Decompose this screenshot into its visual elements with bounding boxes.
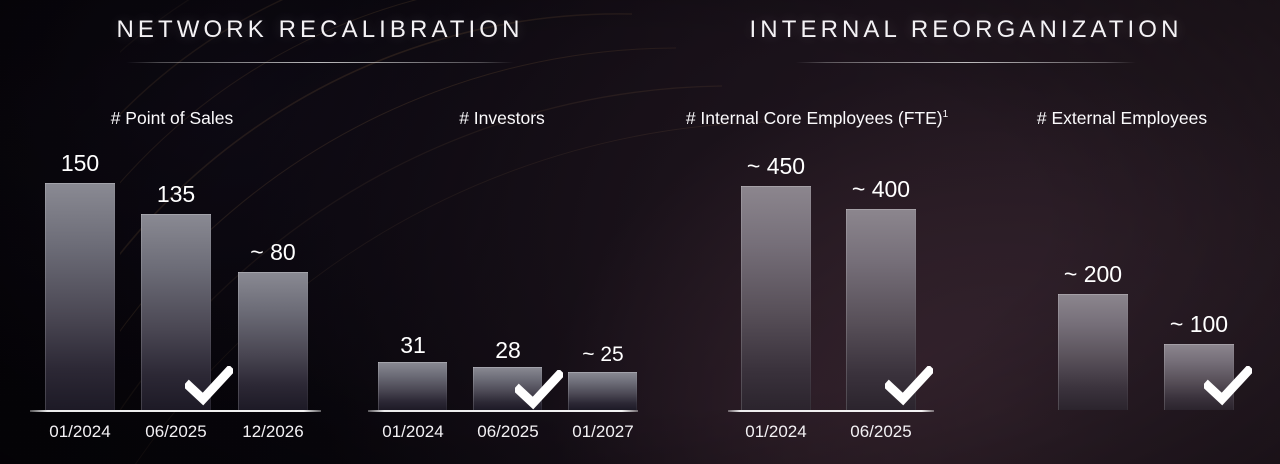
bar-investors-1 <box>473 367 542 410</box>
bar-investors-2 <box>568 372 637 410</box>
bar-external-employees-1 <box>1164 344 1234 410</box>
section-divider-right <box>796 62 1136 63</box>
bar-value-external-employees-0: ~ 200 <box>1048 263 1138 286</box>
bar-investors-0 <box>378 362 447 410</box>
tick-label-investors-0: 01/2024 <box>365 423 461 440</box>
bar-point-of-sales-0 <box>45 183 115 410</box>
bar-value-point-of-sales-0: 150 <box>40 152 120 175</box>
tick-label-point-of-sales-0: 01/2024 <box>32 423 128 440</box>
bar-value-external-employees-1: ~ 100 <box>1154 313 1244 336</box>
tick-label-point-of-sales-1: 06/2025 <box>128 423 224 440</box>
tick-label-investors-1: 06/2025 <box>460 423 556 440</box>
tick-label-investors-2: 01/2027 <box>555 423 651 440</box>
bar-value-internal-core-employees-0: ~ 450 <box>731 155 821 178</box>
bar-point-of-sales-2 <box>238 272 308 410</box>
bar-value-internal-core-employees-1: ~ 400 <box>836 178 926 201</box>
bar-value-investors-2: ~ 25 <box>560 344 646 365</box>
tick-label-internal-core-employees-0: 01/2024 <box>728 423 824 440</box>
bar-internal-core-employees-1 <box>846 209 916 410</box>
plot-area-internal-core-employees: ~ 450 ~ 400 01/2024 06/2025 <box>652 108 982 464</box>
bar-value-investors-0: 31 <box>373 334 453 357</box>
chart-internal-core-employees: # Internal Core Employees (FTE)1 ~ 450 ~… <box>652 108 982 464</box>
section-title-internal-reorganization: INTERNAL REORGANIZATION <box>706 18 1226 42</box>
slide-root: NETWORK RECALIBRATION INTERNAL REORGANIZ… <box>0 0 1280 464</box>
bar-value-investors-1: 28 <box>468 339 548 362</box>
chart-investors: # Investors 31 28 ~ 25 01/2024 06/2025 0… <box>352 108 652 464</box>
section-header-left: NETWORK RECALIBRATION <box>60 18 580 63</box>
tick-label-internal-core-employees-1: 06/2025 <box>833 423 929 440</box>
section-divider-left <box>126 62 514 63</box>
chart-external-employees: # External Employees ~ 200 ~ 100 <box>982 108 1280 464</box>
axis-line-point-of-sales <box>30 410 321 412</box>
section-header-right: INTERNAL REORGANIZATION <box>706 18 1226 63</box>
bar-external-employees-0 <box>1058 294 1128 410</box>
tick-label-point-of-sales-2: 12/2026 <box>225 423 321 440</box>
bar-internal-core-employees-0 <box>741 186 811 410</box>
chart-point-of-sales: # Point of Sales 150 135 ~ 80 01/2024 06… <box>0 108 352 464</box>
axis-line-investors <box>368 410 638 412</box>
plot-area-investors: 31 28 ~ 25 01/2024 06/2025 01/2027 <box>352 108 652 464</box>
bar-value-point-of-sales-2: ~ 80 <box>233 241 313 264</box>
axis-line-internal-core-employees <box>728 410 934 412</box>
bar-point-of-sales-1 <box>141 214 211 410</box>
plot-area-point-of-sales: 150 135 ~ 80 01/2024 06/2025 12/2026 <box>0 108 352 464</box>
plot-area-external-employees: ~ 200 ~ 100 <box>982 108 1280 464</box>
bar-value-point-of-sales-1: 135 <box>136 183 216 206</box>
section-title-network-recalibration: NETWORK RECALIBRATION <box>60 18 580 42</box>
